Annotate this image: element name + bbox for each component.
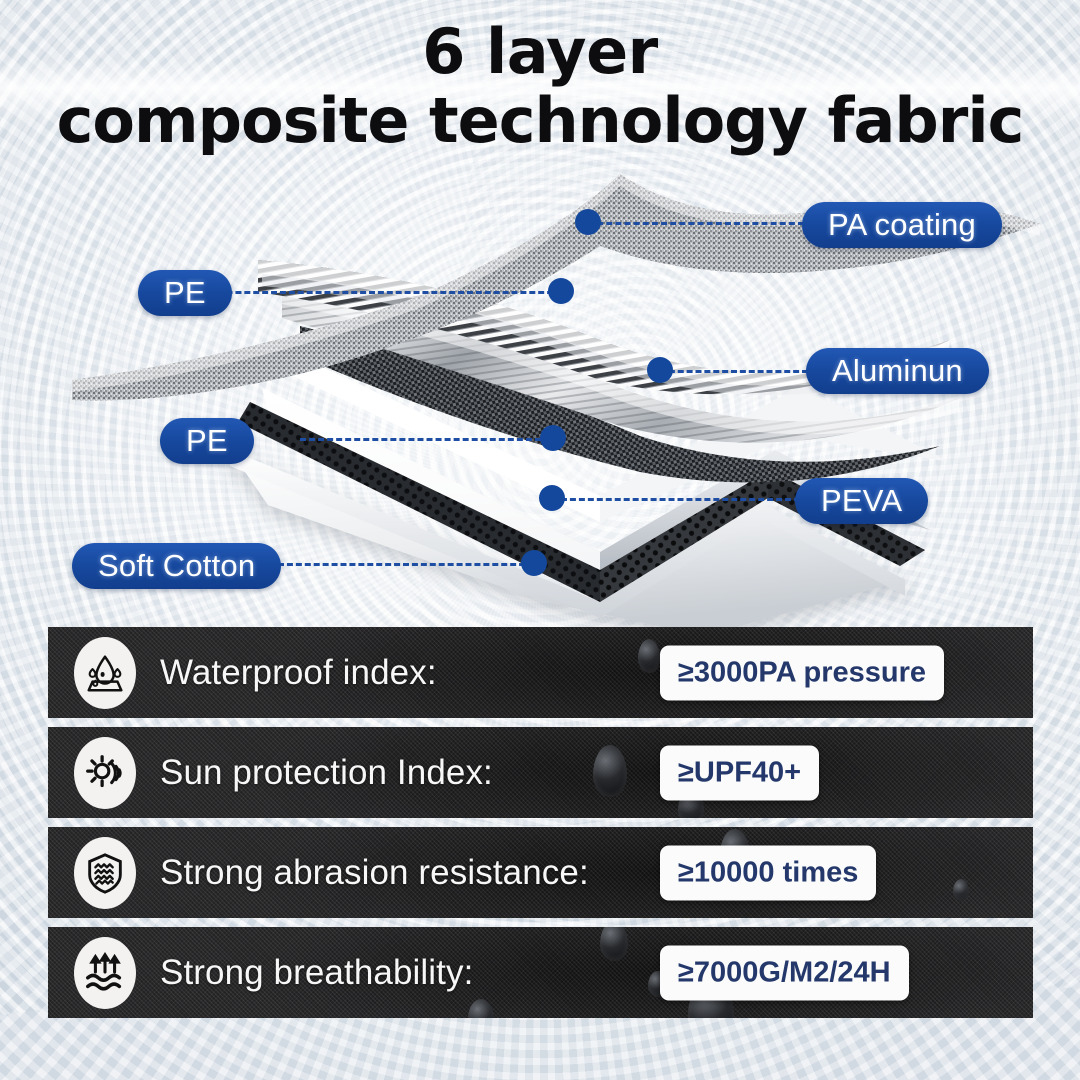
shield-icon [74,837,136,909]
layer-label-text: PE [186,423,228,459]
layer-label-text: PA coating [828,207,976,243]
spec-value-abrasion: ≥10000 times [660,845,876,900]
page-title: 6 layer composite technology fabric [0,20,1080,152]
spec-row-breathability: Strong breathability: ≥7000G/M2/24H [48,927,1033,1018]
layer-label-soft-cotton[interactable]: Soft Cotton [72,543,281,589]
infographic-canvas: 6 layer composite technology fabric [0,0,1080,1080]
leader-dot-peva [539,485,565,511]
leader-line-aluminun [660,370,808,373]
spec-label-waterproof: Waterproof index: [160,653,437,693]
layer-label-pe-upper[interactable]: PE [138,270,232,316]
layer-label-pa-coating[interactable]: PA coating [802,202,1002,248]
layer-label-text: PEVA [821,483,902,519]
leader-line-pe-lower [300,438,550,441]
title-line-1: 6 layer [0,20,1080,83]
spec-value-waterproof: ≥3000PA pressure [660,645,944,700]
leader-dot-pe-upper [548,278,574,304]
spec-row-sun-protection: Sun protection Index: ≥UPF40+ [48,727,1033,818]
water-droplet-decor [953,879,969,901]
leader-dot-pe-lower [540,425,566,451]
layer-label-text: Aluminun [832,353,963,389]
spec-row-abrasion: Strong abrasion resistance: ≥10000 times [48,827,1033,918]
spec-label-abrasion: Strong abrasion resistance: [160,853,589,893]
layer-label-peva[interactable]: PEVA [795,478,928,524]
spec-label-breathability: Strong breathability: [160,953,473,993]
leader-dot-pa-coating [575,209,601,235]
layer-label-text: Soft Cotton [98,548,255,584]
layer-label-pe-lower[interactable]: PE [160,418,254,464]
spec-value-breathability: ≥7000G/M2/24H [660,945,909,1000]
water-droplet-icon [74,637,136,709]
breathability-icon [74,937,136,1009]
leader-dot-aluminun [647,357,673,383]
water-droplet-decor [638,639,660,673]
water-droplet-decor [593,745,627,797]
leader-line-soft-cotton [278,563,534,566]
spec-value-sun-protection: ≥UPF40+ [660,745,819,800]
spec-row-waterproof: Waterproof index: ≥3000PA pressure [48,627,1033,718]
leader-dot-soft-cotton [521,550,547,576]
water-droplet-decor [600,927,628,961]
water-droplet-decor [468,999,494,1018]
title-line-2: composite technology fabric [0,89,1080,152]
leader-line-pe-upper [182,291,562,294]
spec-label-sun-protection: Sun protection Index: [160,753,493,793]
leader-line-peva [552,498,800,501]
layer-label-aluminun[interactable]: Aluminun [806,348,989,394]
layer-label-text: PE [164,275,206,311]
specifications-list: Waterproof index: ≥3000PA pressure [48,627,1033,1018]
sun-icon [74,737,136,809]
leader-line-pa-coating [588,222,804,225]
